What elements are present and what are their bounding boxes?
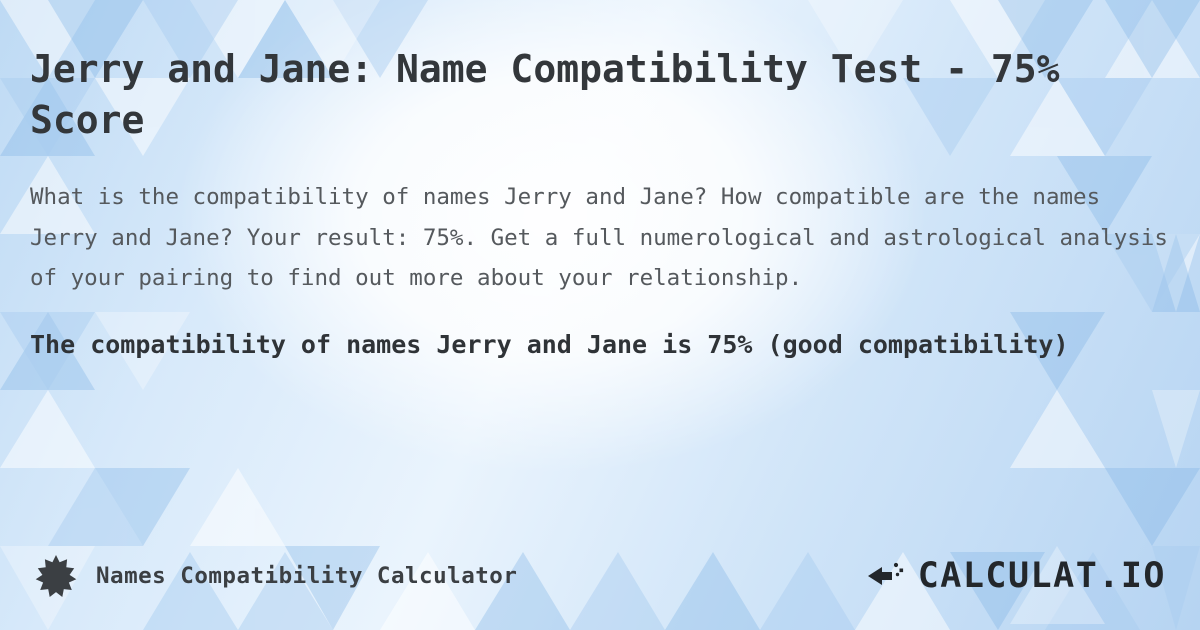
star-burst-icon bbox=[34, 554, 78, 598]
share-card: Jerry and Jane: Name Compatibility Test … bbox=[0, 0, 1200, 630]
page-description: What is the compatibility of names Jerry… bbox=[30, 177, 1170, 299]
footer: Names Compatibility Calculator CALCULAT.… bbox=[0, 548, 1200, 604]
result-statement: The compatibility of names Jerry and Jan… bbox=[30, 325, 1150, 366]
calculator-hand-icon bbox=[866, 556, 908, 596]
brand-text: CALCULAT.IO bbox=[918, 556, 1166, 596]
footer-branding-left: Names Compatibility Calculator bbox=[34, 554, 517, 598]
brand-logo: CALCULAT.IO bbox=[866, 556, 1166, 596]
footer-label: Names Compatibility Calculator bbox=[96, 563, 517, 589]
page-title: Jerry and Jane: Name Compatibility Test … bbox=[30, 44, 1090, 145]
card-content: Jerry and Jane: Name Compatibility Test … bbox=[0, 0, 1200, 365]
